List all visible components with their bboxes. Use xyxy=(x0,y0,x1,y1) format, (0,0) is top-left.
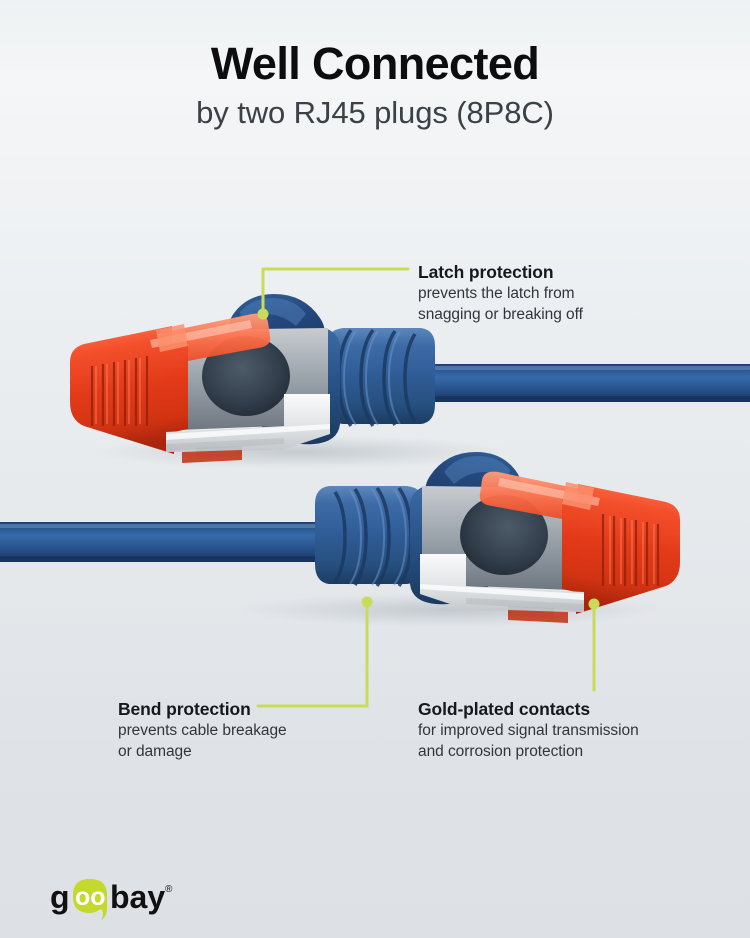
logo-trademark-icon: ® xyxy=(165,884,173,895)
upper-cable xyxy=(430,364,750,402)
logo-letters-bay: bay xyxy=(110,879,165,915)
logo-letter-g: g xyxy=(50,879,70,915)
goobay-logo: g oo bay ® xyxy=(48,870,198,922)
callout-bend-protection: Bend protection prevents cable breakage … xyxy=(118,698,287,762)
callout-gold-line1: for improved signal transmission xyxy=(418,720,639,741)
callout-bend-line1: prevents cable breakage xyxy=(118,720,287,741)
leader-dot-bend xyxy=(362,597,373,608)
product-illustration xyxy=(0,0,750,938)
callout-bend-title: Bend protection xyxy=(118,698,287,720)
callout-gold-line2: and corrosion protection xyxy=(418,741,639,762)
lower-bend-protection xyxy=(315,486,423,586)
callout-bend-line2: or damage xyxy=(118,741,287,762)
lower-cable xyxy=(0,522,320,562)
callout-latch-title: Latch protection xyxy=(418,261,583,283)
callout-latch-protection: Latch protection prevents the latch from… xyxy=(418,261,583,325)
callout-latch-line2: snagging or breaking off xyxy=(418,304,583,325)
leader-dot-gold xyxy=(589,599,600,610)
leader-dot-latch xyxy=(258,309,269,320)
lower-plug-assembly xyxy=(0,452,680,627)
upper-bend-protection xyxy=(327,328,435,426)
logo-letters-oo: oo xyxy=(75,883,106,911)
infographic-canvas: Well Connected by two RJ45 plugs (8P8C) xyxy=(0,0,750,938)
callout-gold-title: Gold-plated contacts xyxy=(418,698,639,720)
callout-gold-plated-contacts: Gold-plated contacts for improved signal… xyxy=(418,698,639,762)
upper-plug-assembly xyxy=(70,294,750,469)
callout-latch-line1: prevents the latch from xyxy=(418,283,583,304)
